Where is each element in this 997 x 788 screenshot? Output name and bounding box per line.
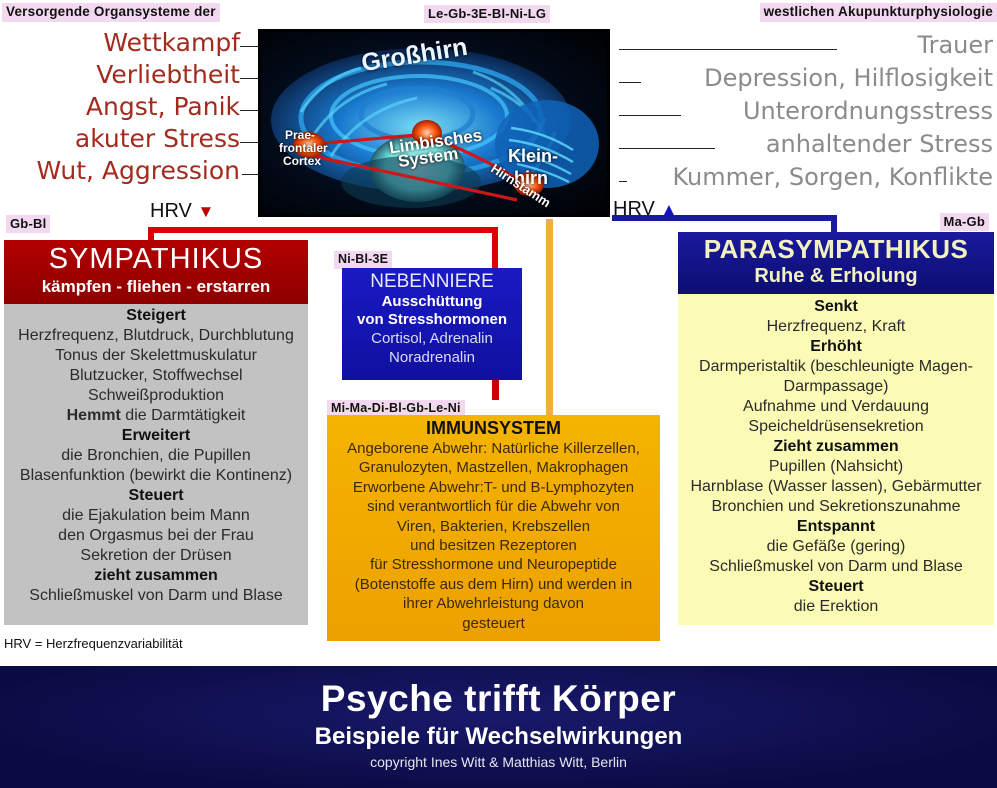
list-item: Wettkampf (0, 28, 248, 60)
parasympathikus-line: die Gefäße (gering) (678, 537, 994, 557)
list-item: Unterordnungsstress (627, 96, 997, 129)
parasympathikus-title: PARASYMPATHIKUS (678, 235, 994, 264)
sympathikus-line: Schließmuskel von Darm und Blase (6, 586, 306, 606)
parasympathikus-line: Erhöht (678, 337, 994, 357)
sympathikus-line: Herzfrequenz, Blutdruck, Durchblutung (6, 326, 306, 346)
sympathikus-line-keyword: Hemmt (67, 407, 121, 424)
emotion-label: Trauer (917, 30, 997, 61)
parasympathikus-line: Entspannt (678, 517, 994, 537)
hrv-right-indicator: HRV ▲ (613, 198, 677, 221)
parasympathikus-line: Speicheldrüsensekretion (678, 417, 994, 437)
brain-label-prae: Prae- (285, 128, 315, 142)
list-item: Kummer, Sorgen, Konflikte (627, 162, 997, 195)
connector-red-horizontal (148, 227, 498, 233)
immunsystem-line: Viren, Bakterien, Krebszellen (327, 517, 660, 536)
tag-ni-bl-3e: Ni-Bl-3E (334, 251, 392, 269)
tag-versorgende-organsysteme: Versorgende Organsysteme der (2, 3, 220, 22)
sympathikus-title: SYMPATHIKUS (4, 243, 308, 276)
leader-line (619, 49, 837, 50)
immunsystem-line: und besitzen Rezeptoren (327, 536, 660, 555)
connector-red-right-down (492, 227, 498, 272)
list-item: anhaltender Stress (627, 129, 997, 162)
tag-meridian-code-top: Le-Gb-3E-Bl-Ni-LG (424, 5, 550, 23)
left-emotion-list: Wettkampf Verliebtheit Angst, Panik akut… (0, 28, 248, 188)
hrv-left-label: HRV (150, 200, 192, 222)
parasympathikus-line: Harnblase (Wasser lassen), Gebärmutter (678, 477, 994, 497)
immunsystem-line: Erworbene Abwehr:T- und B-Lymphozyten (327, 478, 660, 497)
immunsystem-line: gesteuert (327, 614, 660, 633)
sympathikus-line: zieht zusammen (6, 566, 306, 586)
sympathikus-line: Tonus der Skelettmuskulatur (6, 346, 306, 366)
nebenniere-title: NEBENNIERE (342, 270, 522, 293)
parasympathikus-line: Senkt (678, 297, 994, 317)
immunsystem-line: ihrer Abwehrleistung davon (327, 594, 660, 613)
tag-westliche-akupunkturphysiologie: westlichen Akupunkturphysiologie (760, 3, 997, 22)
emotion-label: Depression, Hilflosigkeit (704, 63, 997, 94)
sympathikus-line: Steuert (6, 486, 306, 506)
immunsystem-line: Angeborene Abwehr: Natürliche Killerzell… (327, 439, 660, 458)
nebenniere-line-4: Cortisol, Adrenalin (342, 329, 522, 348)
sympathikus-line: Blutzucker, Stoffwechsel (6, 366, 306, 386)
hrv-right-label: HRV (613, 198, 655, 220)
arrow-down-icon: ▼ (197, 202, 214, 221)
arrow-up-icon: ▲ (660, 200, 677, 219)
brain-label-kleinhirn-1: Klein- (508, 146, 558, 167)
emotion-label: akuter Stress (75, 124, 248, 154)
parasympathikus-header: PARASYMPATHIKUS Ruhe & Erholung (678, 232, 994, 294)
banner-title: Psyche trifft Körper (0, 676, 997, 722)
immunsystem-line: Granulozyten, Mastzellen, Makrophagen (327, 458, 660, 477)
tag-gb-bl: Gb-Bl (6, 215, 50, 233)
parasympathikus-subtitle: Ruhe & Erholung (678, 264, 994, 288)
nebenniere-line-5: Noradrenalin (342, 348, 522, 367)
parasympathikus-line: Darmperistaltik (beschleunigte Magen- (678, 357, 994, 377)
panel-sympathikus: SYMPATHIKUS kämpfen - fliehen - erstarre… (4, 240, 308, 625)
panel-parasympathikus: PARASYMPATHIKUS Ruhe & Erholung Senkt He… (678, 232, 994, 625)
sympathikus-line: Hemmt die Darmtätigkeit (6, 406, 306, 426)
emotion-label: Wettkampf (103, 28, 248, 58)
hrv-left-indicator: HRV ▼ (150, 200, 214, 223)
sympathikus-line-rest: die Darmtätigkeit (121, 407, 246, 424)
sympathikus-line: Steigert (6, 306, 306, 326)
tag-ma-gb: Ma-Gb (940, 213, 989, 231)
parasympathikus-line: Zieht zusammen (678, 437, 994, 457)
parasympathikus-line: Aufnahme und Verdauung (678, 397, 994, 417)
panel-immunsystem: IMMUNSYSTEM Angeborene Abwehr: Natürlich… (327, 415, 660, 641)
nebenniere-line-2: Ausschüttung (342, 293, 522, 311)
sympathikus-line: Blasenfunktion (bewirkt die Kontinenz) (6, 466, 306, 486)
immunsystem-title: IMMUNSYSTEM (327, 417, 660, 439)
banner-subtitle: Beispiele für Wechselwirkungen (0, 722, 997, 752)
leader-line (619, 115, 681, 116)
list-item: Depression, Hilflosigkeit (627, 63, 997, 96)
list-item: akuter Stress (0, 124, 248, 156)
hrv-footnote: HRV = Herzfrequenzvariabilität (4, 636, 183, 651)
emotion-label: Unterordnungsstress (743, 96, 997, 127)
sympathikus-line: die Bronchien, die Pupillen (6, 446, 306, 466)
sympathikus-header: SYMPATHIKUS kämpfen - fliehen - erstarre… (4, 240, 308, 304)
list-item: Wut, Aggression (0, 156, 248, 188)
sympathikus-body: Steigert Herzfrequenz, Blutdruck, Durchb… (4, 304, 308, 606)
parasympathikus-line: Herzfrequenz, Kraft (678, 317, 994, 337)
list-item: Trauer (627, 30, 997, 63)
immunsystem-line: (Botenstoffe aus dem Hirn) und werden in (327, 575, 660, 594)
list-item: Angst, Panik (0, 92, 248, 124)
leader-line (619, 82, 641, 83)
parasympathikus-line: die Erektion (678, 597, 994, 617)
immunsystem-line: sind verantwortlich für die Abwehr von (327, 497, 660, 516)
emotion-label: Kummer, Sorgen, Konflikte (672, 162, 997, 193)
immunsystem-line: für Stresshormone und Neuropeptide (327, 555, 660, 574)
leader-line (619, 181, 627, 182)
sympathikus-line: Sekretion der Drüsen (6, 546, 306, 566)
emotion-label: Angst, Panik (86, 92, 248, 122)
bottom-banner: Psyche trifft Körper Beispiele für Wechs… (0, 666, 997, 788)
parasympathikus-line: Darmpassage) (678, 377, 994, 397)
list-item: Verliebtheit (0, 60, 248, 92)
parasympathikus-line: Pupillen (Nahsicht) (678, 457, 994, 477)
sympathikus-line: die Ejakulation beim Mann (6, 506, 306, 526)
sympathikus-subtitle: kämpfen - fliehen - erstarren (4, 276, 308, 297)
panel-nebenniere: NEBENNIERE Ausschüttung von Stresshormon… (342, 268, 522, 380)
nebenniere-line-3: von Stresshormonen (342, 311, 522, 329)
emotion-label: Wut, Aggression (37, 156, 248, 186)
parasympathikus-line: Steuert (678, 577, 994, 597)
right-emotion-list: Trauer Depression, Hilflosigkeit Unteror… (627, 30, 997, 195)
brain-illustration: Großhirn Limbisches System Klein- hirn P… (258, 29, 610, 217)
parasympathikus-body: Senkt Herzfrequenz, Kraft Erhöht Darmper… (678, 294, 994, 617)
brain-label-frontaler: frontaler (279, 141, 328, 155)
leader-line (619, 148, 715, 149)
sympathikus-line: den Orgasmus bei der Frau (6, 526, 306, 546)
connector-orange-vertical (546, 219, 553, 419)
brain-label-cortex: Cortex (283, 154, 321, 168)
banner-copyright: copyright Ines Witt & Matthias Witt, Ber… (0, 752, 997, 772)
emotion-label: anhaltender Stress (766, 129, 997, 160)
parasympathikus-line: Schließmuskel von Darm und Blase (678, 557, 994, 577)
emotion-label: Verliebtheit (96, 60, 248, 90)
sympathikus-line: Schweißproduktion (6, 386, 306, 406)
sympathikus-line: Erweitert (6, 426, 306, 446)
parasympathikus-line: Bronchien und Sekretionszunahme (678, 497, 994, 517)
